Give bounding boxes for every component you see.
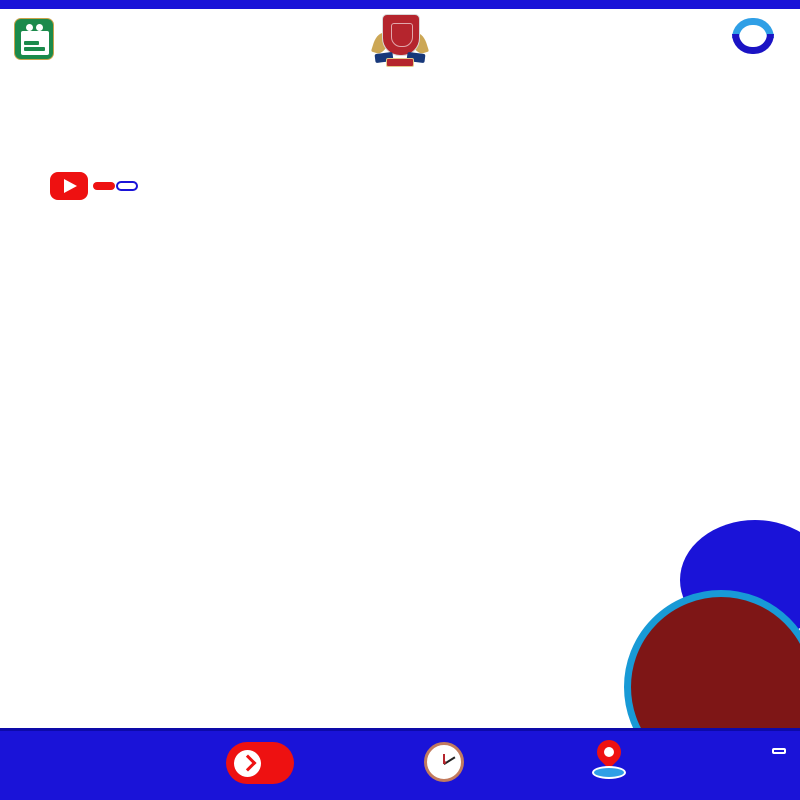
cme-label	[116, 181, 138, 191]
mlh-logo-icon	[772, 748, 786, 754]
pfizer-logo	[730, 16, 782, 56]
chevron-right-icon	[234, 750, 261, 777]
conference-poster	[0, 0, 800, 800]
clock-icon	[424, 742, 464, 782]
mgmch-crest-icon	[372, 12, 428, 72]
phygital-cme-badge	[50, 172, 138, 200]
phygital-label	[93, 182, 115, 190]
top-accent-rule	[0, 0, 800, 9]
pfizer-logo-icon	[730, 16, 776, 56]
sdmh-logo	[14, 18, 62, 60]
play-icon	[50, 172, 88, 200]
location-pin-icon	[592, 740, 626, 784]
footer-bar	[0, 728, 800, 800]
sdmh-logo-icon	[14, 18, 54, 60]
register-now-button[interactable]	[226, 742, 294, 784]
mlh-partner-logo	[772, 738, 786, 759]
